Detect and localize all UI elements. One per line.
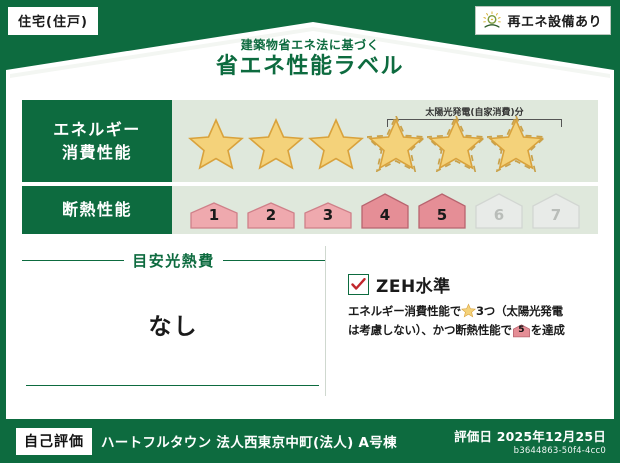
zeh-desc-part1: エネルギー消費性能で (348, 304, 461, 318)
inline-house-number: 5 (512, 323, 531, 338)
energy-performance-label: 住宅(住戸) 再エネ設備あり 建築物省エネ法に基づく (0, 0, 620, 463)
category-chip: 住宅(住戸) (8, 7, 98, 35)
insulation-label: 断熱性能 (62, 198, 132, 221)
insulation-level-number: 7 (529, 206, 583, 224)
renewable-equipment-badge: 再エネ設備あり (475, 6, 611, 35)
solar-sun-icon (481, 10, 503, 32)
section-divider (325, 246, 326, 396)
insulation-level-5: 5 (415, 191, 469, 229)
energy-label-line2: 消費性能 (62, 141, 132, 164)
utility-cost-value: なし (22, 307, 325, 341)
insulation-level-number: 6 (472, 206, 526, 224)
insulation-level-scale: 1 2 3 4 (173, 191, 583, 229)
insulation-level-6: 6 (472, 191, 526, 229)
star-solar (487, 116, 545, 172)
evaluation-date: 評価日 2025年12月25日 (454, 429, 606, 444)
energy-stars-area: 太陽光発電(自家消費)分 (172, 100, 598, 182)
star-filled (187, 116, 245, 172)
renewable-badge-label: 再エネ設備あり (507, 11, 602, 30)
insulation-level-1: 1 (187, 191, 241, 229)
insulation-level-number: 4 (358, 206, 412, 224)
label-footer: 自己評価 ハートフルタウン 法人西東京中町(法人) A号棟 評価日 2025年1… (0, 419, 620, 463)
zeh-title: ZEH水準 (376, 272, 451, 297)
insulation-level-number: 3 (301, 206, 355, 224)
insulation-level-4: 4 (358, 191, 412, 229)
zeh-section: ZEH水準 エネルギー消費性能で 3つ（太陽光発電 は考慮しない）、かつ断熱性能… (336, 246, 598, 396)
footer-right: 評価日 2025年12月25日 b3644863-50f4-4cc0 (454, 426, 606, 456)
utility-cost-bottom-rule (26, 385, 319, 386)
zeh-checkbox (348, 274, 369, 295)
performance-rows: エネルギー 消費性能 太陽光発電(自家消費)分 (22, 100, 598, 238)
zeh-desc-star-count: 3つ（太陽光発電 (476, 304, 563, 318)
star-rating (173, 116, 545, 172)
energy-label-line1: エネルギー (53, 118, 141, 141)
zeh-description: エネルギー消費性能で 3つ（太陽光発電 は考慮しない）、かつ断熱性能で 5 を達… (348, 302, 598, 340)
lower-section: 目安光熱費 なし ZEH水準 エネルギー消費性能で 3つ（太陽光発電 は考 (22, 246, 598, 396)
building-name: ハートフルタウン 法人西東京中町(法人) A号棟 (101, 431, 397, 451)
heading-rule-right (223, 260, 325, 261)
utility-cost-heading-row: 目安光熱費 (22, 250, 325, 271)
inline-star-icon (461, 303, 476, 318)
insulation-performance-row: 断熱性能 1 2 3 (22, 186, 598, 234)
star-filled (247, 116, 305, 172)
zeh-desc-part2: は考慮しない）、かつ断熱性能で (348, 323, 512, 337)
insulation-level-number: 1 (187, 206, 241, 224)
star-solar (367, 116, 425, 172)
insulation-level-number: 2 (244, 206, 298, 224)
zeh-heading-row: ZEH水準 (348, 272, 598, 297)
insulation-levels-area: 1 2 3 4 (172, 186, 598, 234)
insulation-level-3: 3 (301, 191, 355, 229)
title-subtitle: 建築物省エネ法に基づく (0, 38, 620, 52)
energy-performance-row: エネルギー 消費性能 太陽光発電(自家消費)分 (22, 100, 598, 182)
zeh-desc-part3: を達成 (531, 323, 565, 337)
self-evaluation-chip: 自己評価 (16, 428, 92, 455)
utility-cost-section: 目安光熱費 なし (22, 246, 325, 396)
inline-house-icon: 5 (512, 323, 531, 338)
utility-cost-heading: 目安光熱費 (132, 250, 215, 271)
title-block: 建築物省エネ法に基づく 省エネ性能ラベル (0, 38, 620, 82)
insulation-label-cell: 断熱性能 (22, 186, 172, 234)
insulation-level-number: 5 (415, 206, 469, 224)
heading-rule-left (22, 260, 124, 261)
page-title: 省エネ性能ラベル (0, 53, 620, 82)
insulation-level-2: 2 (244, 191, 298, 229)
energy-performance-label-cell: エネルギー 消費性能 (22, 100, 172, 182)
insulation-level-7: 7 (529, 191, 583, 229)
evaluation-id: b3644863-50f4-4cc0 (454, 446, 606, 456)
star-solar (427, 116, 485, 172)
star-filled (307, 116, 365, 172)
